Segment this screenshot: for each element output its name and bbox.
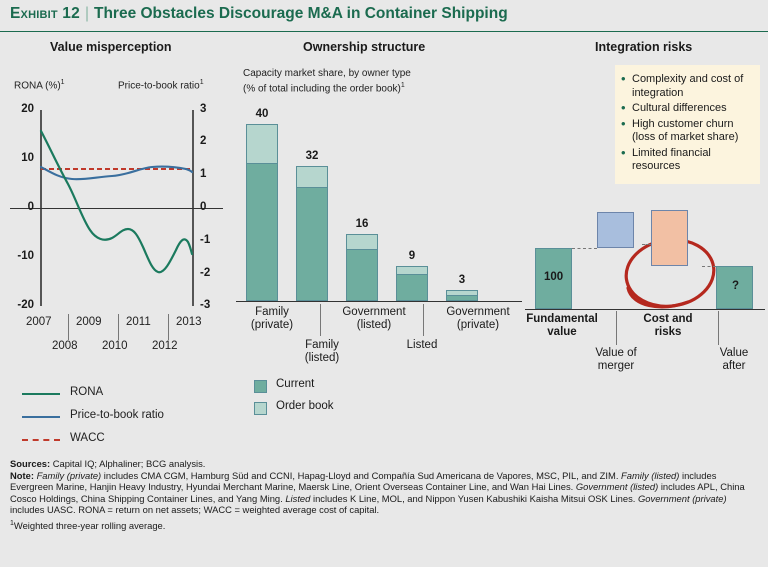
xtick-separator-3 — [168, 314, 169, 340]
waterfall-bar-fundamental-value: 100 — [535, 248, 572, 309]
xtick-2012: 2012 — [152, 340, 178, 352]
bar-listed — [396, 266, 428, 301]
bar-label-government-listed: 16 — [332, 218, 392, 230]
waterfall-separator-2 — [718, 311, 719, 345]
bar-segment-current — [446, 295, 478, 301]
callout-item-financial: Limited financial resources — [621, 147, 752, 174]
axis-label-rona: RONA (%)1 — [14, 77, 65, 92]
waterfall-bar-cost-and-risks — [651, 210, 688, 266]
footnote-text: Weighted three-year rolling average. — [14, 520, 165, 531]
series-rona-line — [41, 131, 192, 272]
bar-segment-order-book — [346, 234, 378, 250]
chart-value-misperception: 20 10 0 -10 -20 3 2 1 0 -1 -2 -3 2007 20… — [0, 110, 232, 325]
legend-swatch-order-book — [254, 402, 267, 415]
bar-family-private — [246, 124, 278, 301]
callout-item-cultural: Cultural differences — [621, 102, 752, 116]
waterfall-category-value-of-merger: Value ofmerger — [570, 347, 662, 373]
axis-label-rona-text: RONA (%) — [14, 80, 61, 91]
axis-label-ptb-sup: 1 — [200, 79, 204, 86]
note-body: Note: Family (private) includes CMA CGM,… — [10, 470, 762, 516]
chart-ownership-structure: 40 32 16 9 3 Family(private) Government(… — [236, 96, 526, 306]
red-circle-annotation-tail — [628, 288, 688, 307]
waterfall-baseline — [525, 309, 765, 310]
chart-integration-risks: Complexity and cost of integration Cultu… — [520, 60, 768, 320]
panel-title-integration-risks: Integration risks — [595, 40, 692, 54]
bar-label-family-private: 40 — [232, 108, 292, 120]
legend-label-order-book: Order book — [276, 400, 334, 412]
bar-label-family-listed: 32 — [282, 150, 342, 162]
legend-label-price-to-book: Price-to-book ratio — [70, 409, 164, 421]
note-footnote-1: 1Weighted three-year rolling average. — [10, 518, 762, 532]
bar-label-government-private: 3 — [432, 274, 492, 286]
bar-segment-current — [296, 187, 328, 301]
legend-label-current: Current — [276, 378, 314, 390]
category-label-family-listed: Family(listed) — [276, 339, 368, 365]
waterfall-category-fundamental-value: Fundamentalvalue — [512, 313, 612, 339]
subtitle-capacity-market-share: Capacity market share, by owner type (% … — [243, 68, 411, 95]
bar-government-private — [446, 290, 478, 301]
xtick-2010: 2010 — [102, 340, 128, 352]
bar-label-listed: 9 — [382, 250, 442, 262]
xtick-2013: 2013 — [176, 316, 202, 328]
callout-list: Complexity and cost of integration Cultu… — [621, 73, 752, 174]
xtick-2007: 2007 — [26, 316, 52, 328]
note-label: Note: — [10, 470, 34, 481]
callout-item-churn: High customer churn (loss of market shar… — [621, 118, 752, 145]
panel-title-value-misperception: Value misperception — [50, 40, 172, 54]
legend-swatch-wacc — [22, 439, 60, 441]
legend-swatch-rona — [22, 393, 60, 395]
xtick-2008: 2008 — [52, 340, 78, 352]
axis-label-ptb-text: Price-to-book ratio — [118, 80, 200, 91]
legend-swatch-price-to-book — [22, 416, 60, 418]
waterfall-connector-1 — [572, 248, 597, 249]
callout-item-complexity: Complexity and cost of integration — [621, 73, 752, 100]
category-label-government-listed: Government(listed) — [318, 306, 430, 332]
legend-label-wacc: WACC — [70, 432, 105, 444]
category-label-family-private: Family(private) — [226, 306, 318, 332]
footnotes: Sources: Capital IQ; Alphaliner; BCG ana… — [10, 458, 762, 532]
panel-title-ownership-structure: Ownership structure — [303, 40, 425, 54]
axis-label-price-to-book: Price-to-book ratio1 — [118, 77, 204, 92]
page-title: Three Obstacles Discourage M&A in Contai… — [94, 5, 508, 22]
waterfall-bar-value-after: ? — [716, 266, 753, 309]
bar-segment-current — [246, 163, 278, 301]
waterfall-connector-3 — [702, 266, 716, 267]
category-label-listed: Listed — [376, 339, 468, 352]
xtick-separator-1 — [68, 314, 69, 340]
legend-label-rona: RONA — [70, 386, 103, 398]
xtick-2011: 2011 — [126, 316, 151, 328]
note-sources-label: Sources: — [10, 458, 50, 469]
bar-family-listed — [296, 166, 328, 301]
exhibit-header: Exhibit 12|Three Obstacles Discourage M&… — [0, 0, 768, 32]
line-plot-area — [0, 110, 232, 310]
subtitle-line1: Capacity market share, by owner type — [243, 68, 411, 79]
bar-government-listed — [346, 234, 378, 301]
exhibit-number: Exhibit 12 — [10, 5, 80, 22]
waterfall-category-cost-and-risks: Cost andrisks — [618, 313, 718, 339]
legend-swatch-current — [254, 380, 267, 393]
waterfall-category-value-after: Valueafter — [688, 347, 768, 373]
subtitle-line2: (% of total including the order book) — [243, 83, 401, 94]
waterfall-bar-label-100: 100 — [544, 271, 563, 283]
xtick-2009: 2009 — [76, 316, 102, 328]
xtick-separator-2 — [118, 314, 119, 340]
bar-segment-order-book — [246, 124, 278, 164]
exhibit-header-text: Exhibit 12|Three Obstacles Discourage M&… — [10, 5, 508, 23]
note-sources: Sources: Capital IQ; Alphaliner; BCG ana… — [10, 458, 762, 470]
subtitle-sup: 1 — [401, 82, 405, 89]
axis-label-rona-sup: 1 — [61, 79, 65, 86]
bar-segment-current — [396, 274, 428, 301]
bar-baseline — [236, 301, 522, 302]
waterfall-bar-label-question: ? — [732, 280, 739, 292]
note-segments: Family (private) includes CMA CGM, Hambu… — [10, 470, 745, 516]
bar-segment-order-book — [296, 166, 328, 188]
waterfall-separator-1 — [616, 311, 617, 345]
header-separator: | — [80, 5, 94, 22]
bar-segment-current — [346, 249, 378, 301]
integration-risks-callout: Complexity and cost of integration Cultu… — [615, 65, 760, 184]
waterfall-bar-value-of-merger — [597, 212, 634, 248]
note-sources-text: Capital IQ; Alphaliner; BCG analysis. — [53, 458, 206, 469]
